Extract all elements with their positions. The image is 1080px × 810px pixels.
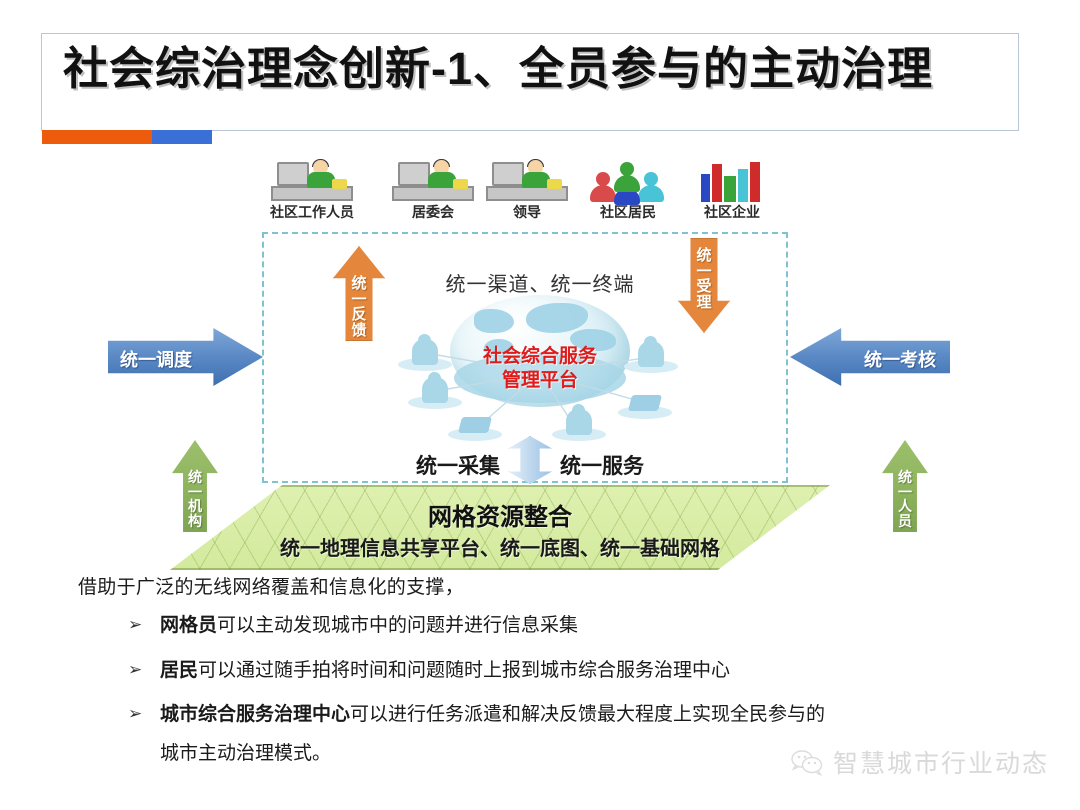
- watermark: 智慧城市行业动态: [790, 744, 1049, 780]
- unified-channel-text: 统一渠道、统一终端: [390, 268, 690, 297]
- list-item-rest: 可以主动发现城市中的问题并进行信息采集: [217, 615, 578, 636]
- platform-name-line2: 管理平台: [390, 369, 690, 393]
- watermark-text: 智慧城市行业动态: [833, 744, 1049, 780]
- arrow-label: 统一调度: [120, 346, 192, 372]
- arrow-label: 统一人员: [882, 470, 928, 529]
- arrow-unified-feedback: 统一反馈: [333, 246, 385, 341]
- platform-name-label: 社会综合服务 管理平台: [390, 345, 690, 393]
- grid-base-subtitle: 统一地理信息共享平台、统一底图、统一基础网格: [170, 532, 830, 561]
- role-label: 领导: [472, 202, 582, 222]
- bullet-arrow-icon: ➢: [128, 611, 142, 639]
- grid-base-title: 网格资源整合: [170, 497, 830, 532]
- architecture-diagram: 社区工作人员 居委会 领导: [0, 150, 1080, 570]
- list-item-rest: 可以进行任务派遣和解决反馈最大程度上实现全民参与的: [350, 704, 825, 725]
- role-label: 社区工作人员: [257, 202, 367, 222]
- role-leader: 领导: [472, 160, 582, 222]
- bullet-arrow-icon: ➢: [128, 700, 142, 728]
- desk-worker-icon: [257, 160, 367, 202]
- list-item-bold: 城市综合服务治理中心: [160, 704, 350, 725]
- arrow-label: 统一受理: [678, 248, 730, 310]
- lead-paragraph: 借助于广泛的无线网络覆盖和信息化的支撑，: [78, 572, 464, 599]
- list-item-rest: 可以通过随手拍将时间和问题随时上报到城市综合服务治理中心: [198, 660, 730, 681]
- arrow-unified-organization: 统一机构: [172, 440, 218, 532]
- network-node: [552, 407, 606, 441]
- people-group-icon: [573, 160, 683, 202]
- list-item: ➢ 网格员可以主动发现城市中的问题并进行信息采集: [128, 611, 958, 642]
- list-item: ➢ 城市综合服务治理中心可以进行任务派遣和解决反馈最大程度上实现全民参与的: [128, 700, 958, 731]
- list-item-text: 城市综合服务治理中心可以进行任务派遣和解决反馈最大程度上实现全民参与的: [160, 700, 825, 731]
- role-community-staff: 社区工作人员: [257, 160, 367, 222]
- role-label: 社区居民: [573, 202, 683, 222]
- list-item-text: 网格员可以主动发现城市中的问题并进行信息采集: [160, 611, 578, 642]
- role-label: 社区企业: [677, 202, 787, 222]
- grid-resource-base: 网格资源整合 统一地理信息共享平台、统一底图、统一基础网格: [170, 485, 830, 570]
- arrow-unified-dispatch: 统一调度: [108, 328, 263, 386]
- accent-bar-orange: [42, 130, 152, 144]
- list-item-continuation: 城市主动治理模式。: [160, 738, 331, 765]
- page-title: 社会综治理念创新-1、全员参与的主动治理: [63, 44, 1003, 94]
- list-item-bold: 居民: [160, 660, 198, 681]
- bullet-arrow-icon: ➢: [128, 656, 142, 684]
- platform-name-line1: 社会综合服务: [390, 345, 690, 369]
- platform-globe-graphic: 社会综合服务 管理平台: [390, 295, 690, 455]
- wechat-icon: [790, 748, 824, 776]
- accent-bar-blue: [152, 130, 212, 144]
- list-item-text: 居民可以通过随手拍将时间和问题随时上报到城市综合服务治理中心: [160, 656, 730, 687]
- list-item: ➢ 居民可以通过随手拍将时间和问题随时上报到城市综合服务治理中心: [128, 656, 958, 687]
- role-community-enterprise: 社区企业: [677, 160, 787, 222]
- bar-chart-building-icon: [677, 160, 787, 202]
- desk-worker-icon: [472, 160, 582, 202]
- arrow-unified-assessment: 统一考核: [790, 328, 950, 386]
- list-item-bold: 网格员: [160, 615, 217, 636]
- arrow-label: 统一机构: [172, 470, 218, 529]
- role-residents: 社区居民: [573, 160, 683, 222]
- arrow-unified-personnel: 统一人员: [882, 440, 928, 532]
- network-node-device: [448, 407, 502, 441]
- arrow-label: 统一考核: [864, 346, 936, 372]
- arrow-label: 统一反馈: [333, 276, 385, 338]
